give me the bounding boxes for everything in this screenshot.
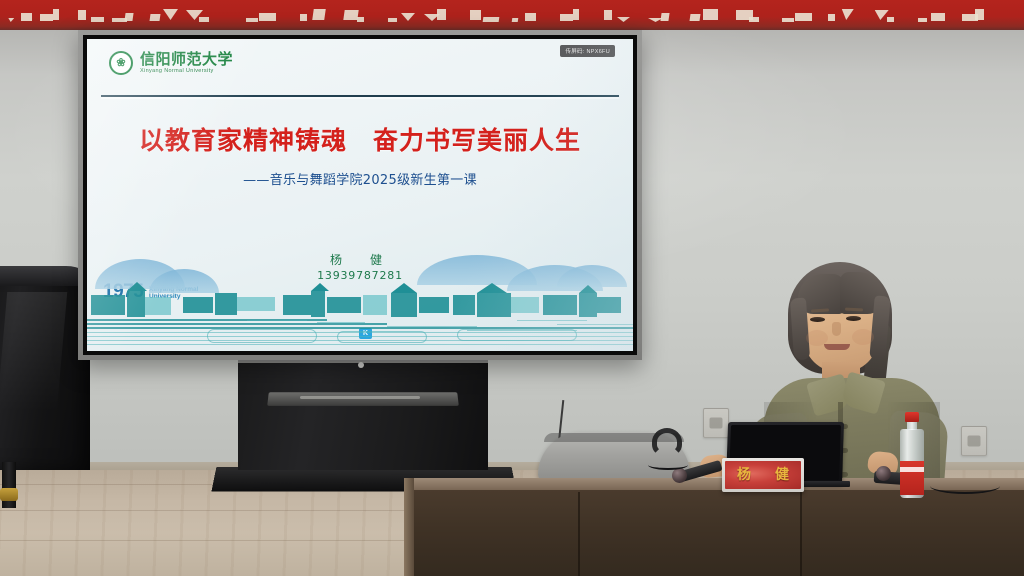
building-roof <box>311 283 329 291</box>
wall-power-outlet[interactable] <box>961 426 987 456</box>
banner-glyph-fragment <box>53 9 59 20</box>
campus-building <box>511 297 539 313</box>
microphone-head-icon <box>672 468 687 483</box>
ground-line <box>87 323 387 325</box>
piano-gloss-highlight <box>0 292 67 412</box>
ground-line <box>87 344 633 346</box>
campus-building <box>283 295 311 315</box>
presentation-slide[interactable]: ❀ 信阳师范大学 Xinyang Normal University 传屏码: … <box>87 39 633 351</box>
banner-glyph-fragment <box>617 17 630 22</box>
campus-building <box>579 293 597 317</box>
banner-glyph-fragment <box>8 18 15 22</box>
interactive-flat-panel[interactable]: ❀ 信阳师范大学 Xinyang Normal University 传屏码: … <box>78 30 642 360</box>
wall-power-outlet[interactable] <box>703 408 729 438</box>
banner-glyph-fragment <box>782 18 794 22</box>
bottle-label-stripe <box>900 467 924 472</box>
desk-cable <box>648 460 688 470</box>
campus-building <box>391 293 417 317</box>
header-divider <box>101 95 619 97</box>
campus-building <box>237 297 275 311</box>
banner-glyph-fragment <box>300 14 307 21</box>
campus-building <box>363 295 387 315</box>
piano-caster <box>0 488 18 501</box>
banner-glyph-fragment <box>437 9 446 20</box>
banner-glyph-fragment <box>470 10 481 20</box>
slide-title: 以教育家精神铸魂 奋力书写美丽人生 <box>87 121 633 157</box>
desk-left-edge <box>404 478 414 576</box>
lecture-hall-scene: ❀ 信阳师范大学 Xinyang Normal University 传屏码: … <box>0 0 1024 576</box>
campus-building <box>327 297 361 313</box>
banner-glyph-fragment <box>259 13 276 21</box>
eye-right <box>846 316 861 321</box>
banner-glyph-fragment <box>975 9 984 20</box>
university-logo: ❀ 信阳师范大学 Xinyang Normal University <box>109 51 233 75</box>
building-roof <box>477 283 507 293</box>
banner-glyph-fragment <box>660 13 669 21</box>
campus-path-outline <box>337 331 427 343</box>
banner-glyph-fragment <box>163 9 178 20</box>
nameplate-face: 杨 健 <box>725 461 801 489</box>
banner-glyph-fragment <box>401 13 415 21</box>
nameplate-char-2: 健 <box>775 468 789 482</box>
campus-building <box>311 291 325 317</box>
banner-glyph-fragment <box>91 17 104 22</box>
stand-bolt <box>358 362 364 368</box>
university-name-en: Xinyang Normal University <box>140 68 233 74</box>
building-roof <box>391 283 417 293</box>
water-bottle[interactable] <box>900 412 924 498</box>
slide-subtitle: ——音乐与舞蹈学院2025级新生第一课 <box>87 169 633 188</box>
campus-skyline-graphic: 1975 Xinyang Normal University K <box>87 255 633 351</box>
banner-glyph-fragment <box>918 18 927 22</box>
banner-glyph-fragment <box>124 13 133 21</box>
overhead-red-banner <box>0 0 1024 30</box>
lecture-desk-front <box>404 490 1024 576</box>
campus-building <box>477 293 511 317</box>
headphones[interactable] <box>652 428 682 456</box>
banner-glyph-fragment <box>560 14 573 21</box>
banner-glyph-fragment <box>604 10 612 20</box>
desk-nameplate: 杨 健 <box>722 458 804 492</box>
banner-glyph-fragment <box>246 18 258 22</box>
university-seal-icon: ❀ <box>109 51 133 75</box>
banner-glyph-fragment <box>21 13 32 21</box>
campus-building <box>543 295 577 315</box>
campus-building <box>145 297 171 315</box>
display-stand-shelf <box>267 392 459 406</box>
eye-left <box>810 317 825 322</box>
bottle-neck <box>907 421 917 430</box>
banner-glyph-fragment <box>388 18 397 22</box>
ground-line <box>317 322 365 324</box>
banner-glyph-fragment <box>483 17 500 22</box>
campus-ground-lines <box>87 317 633 351</box>
banner-glyph-fragment <box>795 13 812 21</box>
banner-glyph-fragment <box>525 13 536 21</box>
ground-line <box>387 326 477 328</box>
piano-leg <box>2 462 16 508</box>
panel-bezel: ❀ 信阳师范大学 Xinyang Normal University 传屏码: … <box>83 35 637 355</box>
banner-glyph-fragment <box>887 17 894 22</box>
banner-glyph-fragment <box>840 9 854 20</box>
campus-building <box>127 291 145 317</box>
banner-glyph-fragment <box>749 17 759 22</box>
building-roof <box>127 282 147 291</box>
campus-building <box>91 295 125 315</box>
banner-glyph-fragment <box>690 14 701 21</box>
bottle-body <box>900 429 924 498</box>
banner-glyph-fragment <box>828 14 835 21</box>
campus-path-outline <box>457 329 577 341</box>
desk-cable <box>930 478 1000 494</box>
ground-line <box>247 320 307 322</box>
banner-glyph-fragment <box>199 17 209 22</box>
campus-path-outline <box>207 329 317 343</box>
university-name-cn: 信阳师范大学 <box>140 52 233 68</box>
banner-glyph-fragment <box>573 9 579 20</box>
banner-glyph-fragment <box>312 9 326 20</box>
campus-building <box>183 297 213 313</box>
ground-line <box>517 320 587 322</box>
banner-glyph-fragment <box>150 14 161 21</box>
ground-line <box>557 324 633 326</box>
nameplate-char-1: 杨 <box>737 468 751 482</box>
shelf-slot <box>300 396 420 399</box>
microphone-head-icon <box>876 466 891 481</box>
bottle-label <box>900 461 924 495</box>
campus-building <box>419 297 449 313</box>
display-stand-column <box>238 360 488 470</box>
cheek-right <box>852 329 874 345</box>
banner-glyph-fragment <box>512 18 519 22</box>
campus-building <box>453 295 475 315</box>
campus-building <box>597 297 621 313</box>
banner-glyph-fragment <box>931 13 945 21</box>
banner-glyph-fragment <box>78 10 86 20</box>
building-roof <box>579 285 597 293</box>
mouth <box>824 344 850 350</box>
banner-glyph-fragment <box>40 14 53 21</box>
nose <box>832 322 841 336</box>
banner-glyph-fragment <box>357 17 364 22</box>
screen-share-code-badge: 传屏码: NPX6FU <box>560 45 615 57</box>
banner-glyph-fragment <box>703 9 718 20</box>
campus-building <box>215 293 237 315</box>
bottle-cap[interactable] <box>905 412 919 422</box>
